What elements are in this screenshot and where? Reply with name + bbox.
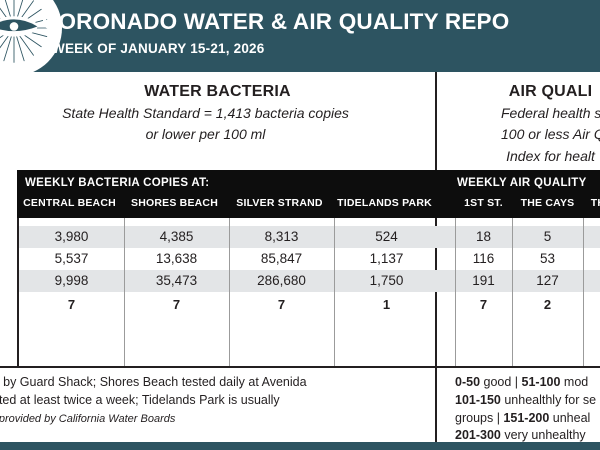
water-cell: 8,313	[229, 226, 334, 248]
table-row-total: 7 7 7 1	[19, 294, 437, 316]
air-cell: 5	[512, 226, 583, 248]
water-col-central-beach: CENTRAL BEACH	[17, 197, 122, 209]
water-cell: 9,998	[19, 270, 124, 292]
water-col-tidelands-park: TIDELANDS PARK	[332, 197, 437, 209]
header-title-block: CORONADO WATER & AIR QUALITY REPO WEEK O…	[42, 10, 509, 56]
air-data-grid: 18 5 116 53 191 127 7 2	[437, 218, 600, 366]
page-subtitle: WEEK OF JANUARY 15-21, 2026	[52, 41, 509, 56]
air-footnote-rule	[437, 366, 600, 368]
air-table-header-band: WEEKLY AIR QUALITY 1ST ST. THE CAYS TH	[437, 170, 600, 218]
air-cell: 127	[512, 270, 583, 292]
water-intro: WATER BACTERIA State Health Standard = 1…	[0, 72, 435, 144]
aqi-label-good: good |	[480, 375, 521, 389]
page-title: CORONADO WATER & AIR QUALITY REPO	[42, 10, 509, 34]
air-band-title: WEEKLY AIR QUALITY	[457, 177, 587, 189]
water-col-shores-beach: SHORES BEACH	[122, 197, 227, 209]
aqi-range-101-150: 101-150	[455, 393, 501, 407]
water-band-title: WEEKLY BACTERIA COPIES AT:	[25, 177, 209, 189]
water-cell-total: 7	[19, 294, 124, 316]
air-col-1st-st: 1ST ST.	[455, 197, 512, 209]
aqi-legend-line-2: 101-150 unhealthly for se	[455, 392, 600, 410]
aqi-label-sensitive: unhealthly for se	[501, 393, 596, 407]
air-cell-total: 7	[455, 294, 512, 316]
water-standard-line1: State Health Standard = 1,413 bacteria c…	[0, 104, 435, 122]
air-cell-total: 2	[512, 294, 583, 316]
water-bacteria-panel: WATER BACTERIA State Health Standard = 1…	[0, 72, 437, 442]
water-cell-total: 7	[124, 294, 229, 316]
water-cell: 3,980	[19, 226, 124, 248]
aqi-range-201-300: 201-300	[455, 428, 501, 442]
report-header: CORONADO WATER & AIR QUALITY REPO WEEK O…	[0, 0, 600, 72]
aqi-label-groups: groups |	[455, 411, 503, 425]
air-intro: AIR QUALI Federal health sta 100 or less…	[437, 72, 600, 165]
water-column-header-row: CENTRAL BEACH SHORES BEACH SILVER STRAND…	[17, 197, 437, 218]
report-body: WATER BACTERIA State Health Standard = 1…	[0, 72, 600, 442]
air-cell: 18	[455, 226, 512, 248]
aqi-range-151-200: 151-200	[503, 411, 549, 425]
water-cell: 35,473	[124, 270, 229, 292]
water-cell: 5,537	[19, 248, 124, 270]
table-row: 9,998 35,473 286,680 1,750	[19, 270, 437, 292]
air-grid-divider-2	[583, 218, 584, 366]
water-heading: WATER BACTERIA	[0, 83, 435, 101]
water-cell-total: 1	[334, 294, 437, 316]
table-row-total: 7 2	[437, 294, 600, 316]
air-quality-panel: AIR QUALI Federal health sta 100 or less…	[437, 72, 600, 442]
table-row: 5,537 13,638 85,847 1,137	[19, 248, 437, 270]
water-cell: 13,638	[124, 248, 229, 270]
air-heading: AIR QUALI	[501, 83, 600, 101]
water-data-grid: 3,980 4,385 8,313 524 5,537 13,638 85,84…	[17, 218, 437, 366]
air-cell: 191	[455, 270, 512, 292]
footer-bar	[0, 442, 600, 450]
water-cell: 524	[334, 226, 437, 248]
aqi-legend-line-1: 0-50 good | 51-100 mod	[455, 374, 600, 392]
water-footnote-source: Data provided by California Water Boards	[0, 413, 175, 425]
air-cell: 116	[455, 248, 512, 270]
water-standard-line2: or lower per 100 ml	[0, 125, 435, 143]
water-cell: 85,847	[229, 248, 334, 270]
water-cell-total: 7	[229, 294, 334, 316]
water-table-header-band: WEEKLY BACTERIA COPIES AT: CENTRAL BEACH…	[17, 170, 437, 218]
aqi-range-51-100: 51-100	[522, 375, 561, 389]
water-cell: 1,137	[334, 248, 437, 270]
aqi-label-moderate: mod	[560, 375, 588, 389]
table-row: 3,980 4,385 8,313 524	[19, 226, 437, 248]
air-quality-legend: 0-50 good | 51-100 mod 101-150 unhealthl…	[455, 374, 600, 450]
air-cell: 53	[512, 248, 583, 270]
water-col-silver-strand: SILVER STRAND	[227, 197, 332, 209]
table-row: 191 127	[437, 270, 600, 292]
water-cell: 1,750	[334, 270, 437, 292]
table-row: 116 53	[437, 248, 600, 270]
air-col-third: TH	[583, 197, 600, 209]
air-column-header-row: 1ST ST. THE CAYS TH	[437, 197, 600, 218]
water-footnote-line2: ral Beach tested at least twice a week; …	[0, 392, 437, 410]
aqi-range-0-50: 0-50	[455, 375, 480, 389]
report-page: CORONADO WATER & AIR QUALITY REPO WEEK O…	[0, 0, 600, 450]
water-footnote: d tested daily by Guard Shack; Shores Be…	[0, 374, 437, 427]
water-footnote-line3: a week. Data provided by California Wate…	[0, 410, 437, 428]
aqi-legend-line-3: groups | 151-200 unheal	[455, 410, 600, 428]
water-footnote-rule	[0, 366, 437, 368]
water-cell: 286,680	[229, 270, 334, 292]
water-footnote-line1: d tested daily by Guard Shack; Shores Be…	[0, 374, 437, 392]
aqi-label-very-unhealthy: very unhealthy	[501, 428, 586, 442]
table-row: 18 5	[437, 226, 600, 248]
air-standard-line3: Index for healt	[501, 147, 600, 165]
aqi-label-unhealthy: unheal	[549, 411, 590, 425]
air-standard-line2: 100 or less Air Qua	[501, 125, 600, 143]
water-cell: 4,385	[124, 226, 229, 248]
air-standard-line1: Federal health sta	[501, 104, 600, 122]
air-col-the-cays: THE CAYS	[512, 197, 583, 209]
